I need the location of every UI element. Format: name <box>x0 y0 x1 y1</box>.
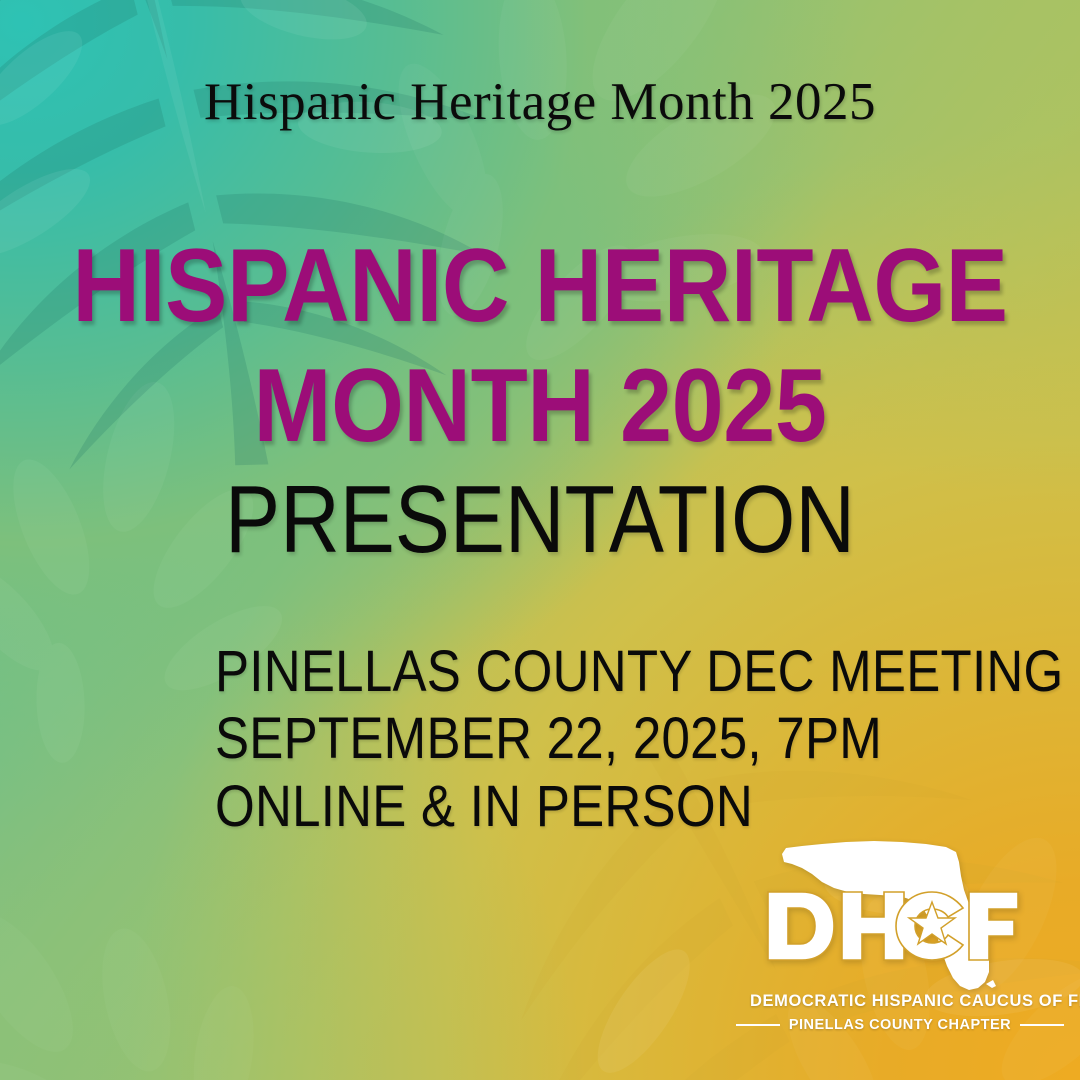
event-details: PINELLAS COUNTY DEC MEETING SEPTEMBER 22… <box>215 638 1080 840</box>
hispanic-heritage-month-poster: Hispanic Heritage Month 2025 HISPANIC HE… <box>0 0 1080 1080</box>
detail-line-meeting: PINELLAS COUNTY DEC MEETING <box>215 638 1064 705</box>
eyebrow-heading: Hispanic Heritage Month 2025 <box>0 76 1080 129</box>
tagline-rule-left <box>736 1024 780 1026</box>
subtitle: PRESENTATION <box>76 472 1005 568</box>
dhcf-logo-tagline: DEMOCRATIC HISPANIC CAUCUS OF FLORIDA PI… <box>750 992 1050 1033</box>
detail-line-datetime: SEPTEMBER 22, 2025, 7PM <box>215 705 1064 772</box>
tagline-organization: DEMOCRATIC HISPANIC CAUCUS OF FLORIDA <box>750 992 1050 1011</box>
detail-line-format: ONLINE & IN PERSON <box>215 773 1064 840</box>
tagline-rule-right <box>1020 1024 1064 1026</box>
florida-state-outline-icon <box>750 836 1050 996</box>
page-title: HISPANIC HERITAGE MONTH 2025 PRESENTATIO… <box>0 236 1080 568</box>
title-line-2: MONTH 2025 <box>54 356 1026 458</box>
tagline-chapter: PINELLAS COUNTY CHAPTER <box>789 1017 1011 1033</box>
tagline-chapter-row: PINELLAS COUNTY CHAPTER <box>750 1017 1050 1033</box>
dhcf-logo: DEMOCRATIC HISPANIC CAUCUS OF FLORIDA PI… <box>750 836 1050 1044</box>
dhcf-logo-mark <box>750 836 1050 996</box>
poster-content: Hispanic Heritage Month 2025 HISPANIC HE… <box>0 0 1080 1080</box>
title-line-1: HISPANIC HERITAGE <box>54 236 1026 338</box>
